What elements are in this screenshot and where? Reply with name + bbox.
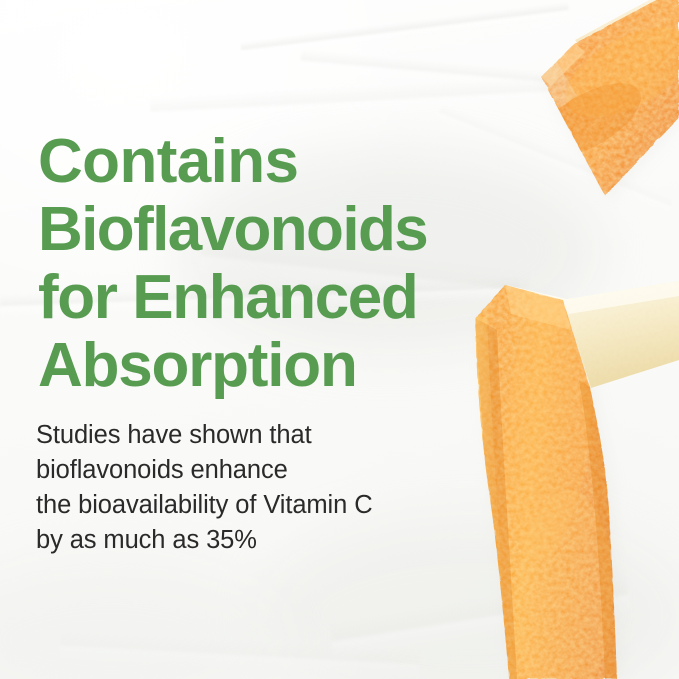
headline-line-4: Absorption <box>38 332 508 400</box>
body-line-4: by as much as 35% <box>36 523 466 558</box>
headline-line-3: for Enhanced <box>38 264 508 332</box>
headline-line-1: Contains <box>38 128 508 196</box>
page-title: Contains Bioflavonoids for Enhanced Abso… <box>38 128 508 400</box>
headline-line-2: Bioflavonoids <box>38 196 508 264</box>
body-line-2: bioflavonoids enhance <box>36 453 466 488</box>
body-copy: Studies have shown that bioflavonoids en… <box>36 418 466 558</box>
body-line-3: the bioavailability of Vitamin C <box>36 488 466 523</box>
promo-card: Contains Bioflavonoids for Enhanced Abso… <box>0 0 679 679</box>
body-line-1: Studies have shown that <box>36 418 466 453</box>
